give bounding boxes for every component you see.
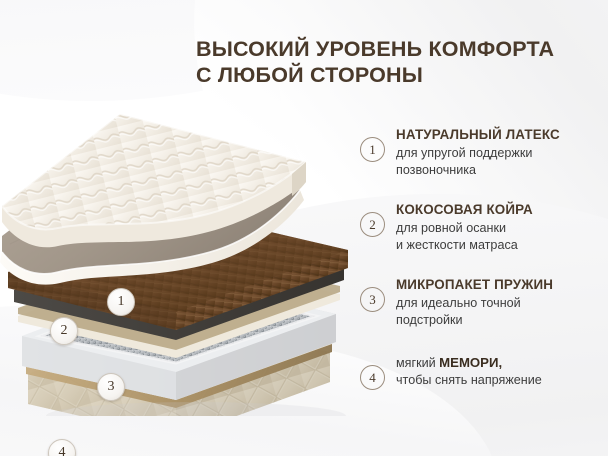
legend-badge-3: 3: [360, 287, 385, 312]
title-line-1: ВЫСОКИЙ УРОВЕНЬ КОМФОРТА: [196, 37, 554, 61]
legend-body-1: для упругой поддержки позвоночника: [396, 145, 560, 178]
legend-body-3: для идеально точной подстройки: [396, 295, 553, 328]
legend-item-latex: 1 НАТУРАЛЬНЫЙ ЛАТЕКС для упругой поддерж…: [360, 126, 560, 178]
legend-body-1-line-2: позвоночника: [396, 162, 560, 179]
legend-body-4: чтобы снять напряжение: [396, 372, 542, 389]
legend-body-1-line-1: для упругой поддержки: [396, 145, 560, 162]
illustration-badge-1: 1: [107, 288, 135, 316]
legend-body-2-line-2: и жесткости матраса: [396, 237, 533, 254]
illustration-badge-4: 4: [48, 439, 76, 456]
legend-body-2-line-1: для ровной осанки: [396, 220, 533, 237]
legend-heading-4: мягкий МЕМОРИ,: [396, 354, 542, 372]
legend-text-1: НАТУРАЛЬНЫЙ ЛАТЕКС для упругой поддержки…: [396, 126, 560, 178]
legend-body-3-line-1: для идеально точной: [396, 295, 553, 312]
legend-text-3: МИКРОПАКЕТ ПРУЖИН для идеально точной по…: [396, 276, 553, 328]
legend-text-4: мягкий МЕМОРИ, чтобы снять напряжение: [396, 354, 542, 389]
legend-heading-4-prefix: мягкий: [396, 356, 439, 370]
legend-heading-4-strong: МЕМОРИ,: [439, 355, 502, 370]
legend-item-springs: 3 МИКРОПАКЕТ ПРУЖИН для идеально точной …: [360, 276, 553, 328]
legend-heading-1: НАТУРАЛЬНЫЙ ЛАТЕКС: [396, 126, 560, 143]
legend-badge-4: 4: [360, 365, 385, 390]
illustration-badge-3: 3: [97, 373, 125, 401]
legend-body-2: для ровной осанки и жесткости матраса: [396, 220, 533, 253]
infographic-canvas: ВЫСОКИЙ УРОВЕНЬ КОМФОРТА С ЛЮБОЙ СТОРОНЫ: [0, 0, 608, 456]
legend-text-2: КОКОСОВАЯ КОЙРА для ровной осанки и жест…: [396, 201, 533, 253]
mattress-cutaway-illustration: 1 2 3 4: [0, 86, 352, 416]
legend-item-memory: 4 мягкий МЕМОРИ, чтобы снять напряжение: [360, 354, 542, 390]
legend-heading-3: МИКРОПАКЕТ ПРУЖИН: [396, 276, 553, 293]
mattress-svg: [0, 86, 352, 416]
title-line-2: С ЛЮБОЙ СТОРОНЫ: [196, 62, 596, 88]
legend-badge-2: 2: [360, 212, 385, 237]
legend-heading-2: КОКОСОВАЯ КОЙРА: [396, 201, 533, 218]
legend-badge-1: 1: [360, 137, 385, 162]
legend-item-coir: 2 КОКОСОВАЯ КОЙРА для ровной осанки и же…: [360, 201, 533, 253]
illustration-badge-2: 2: [50, 317, 78, 345]
page-title: ВЫСОКИЙ УРОВЕНЬ КОМФОРТА С ЛЮБОЙ СТОРОНЫ: [196, 36, 596, 88]
legend-body-3-line-2: подстройки: [396, 312, 553, 329]
